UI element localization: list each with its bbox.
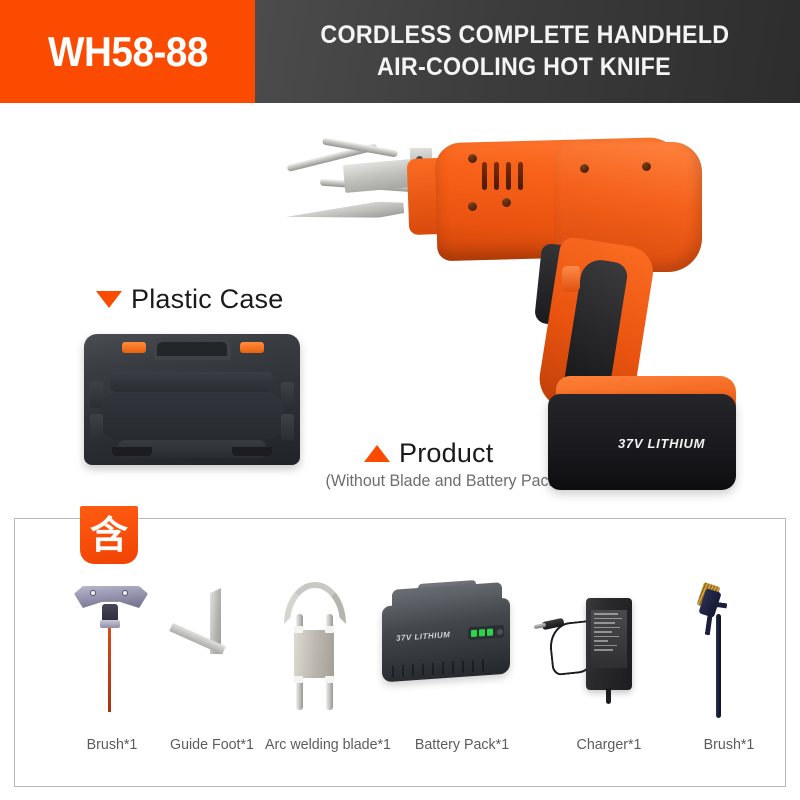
case-handle: [153, 338, 231, 360]
case-body: [84, 334, 300, 465]
charger-spec-label: [591, 610, 627, 668]
accessory-wire-brush: [690, 580, 786, 720]
arc-blade-loop: [284, 582, 346, 624]
accessory-brush-t-handle: [60, 580, 164, 720]
header-banner: WH58-88 CORDLESS COMPLETE HANDHELD AIR-C…: [0, 0, 800, 103]
battery-led: [487, 629, 493, 636]
cooling-vent: [506, 162, 511, 190]
t-handle-hole: [122, 590, 128, 596]
case-foot: [112, 447, 152, 456]
trigger-button[interactable]: [562, 266, 580, 292]
arc-blade-clamp: [325, 676, 334, 683]
case-latch-right: [240, 342, 264, 353]
case-foot: [232, 447, 272, 456]
accessory-charger: [534, 580, 684, 720]
accessory-label-guide-foot: Guide Foot*1: [163, 736, 262, 753]
accessory-label-wire-brush: Brush*1: [677, 736, 782, 753]
battery-led: [479, 629, 485, 636]
blade-plate: [286, 200, 405, 224]
arc-blade-clamp: [294, 626, 303, 633]
blade-heater-block: [343, 159, 413, 193]
accessory-label-charger: Charger*1: [547, 736, 671, 753]
included-badge: 含: [80, 506, 138, 564]
arc-blade-clamp: [294, 676, 303, 683]
arc-blade-plate: [294, 630, 334, 678]
title-block: CORDLESS COMPLETE HANDHELD AIR-COOLING H…: [255, 0, 800, 103]
accessories-row: 37V LITHIUM: [14, 580, 786, 720]
t-handle-shaft: [108, 628, 111, 712]
case-latch-left: [122, 342, 146, 353]
accessory-labels: Brush*1 Guide Foot*1 Arc welding blade*1…: [14, 736, 786, 758]
hot-knife-product-image: 37V LITHIUM: [286, 118, 746, 488]
body-screw: [468, 202, 477, 211]
accessory-label-battery-pack: Battery Pack*1: [396, 736, 529, 753]
charger-output-cord: [606, 688, 611, 704]
accessory-guide-foot: [164, 580, 260, 720]
arc-blade-clamp: [325, 626, 334, 633]
case-panel-middle: [100, 392, 284, 440]
sku-text: WH58-88: [48, 28, 208, 76]
t-handle-collar: [100, 620, 120, 628]
cooling-vent: [494, 162, 499, 190]
callout-plastic-case-label: Plastic Case: [131, 284, 283, 315]
t-handle-hole: [90, 590, 96, 596]
title-line-1: CORDLESS COMPLETE HANDHELD: [320, 20, 729, 51]
cooling-vent: [518, 162, 523, 190]
body-screw: [468, 154, 477, 163]
body-screw: [642, 162, 651, 171]
accessory-battery-pack: 37V LITHIUM: [376, 580, 522, 720]
body-screw: [580, 164, 589, 173]
callout-plastic-case: Plastic Case: [96, 284, 283, 315]
accessory-label-arc-welding-blade: Arc welding blade*1: [262, 736, 395, 753]
cooling-vent: [482, 162, 487, 190]
battery-charge-gauge: [468, 625, 504, 641]
title-line-2: AIR-COOLING HOT KNIFE: [378, 52, 672, 83]
battery-gauge-button[interactable]: [497, 628, 503, 634]
body-screw: [502, 198, 511, 207]
battery-led: [471, 630, 477, 637]
accessory-arc-welding-blade: [266, 580, 370, 720]
wire-brush-handle: [716, 614, 721, 718]
product-infographic: WH58-88 CORDLESS COMPLETE HANDHELD AIR-C…: [0, 0, 800, 800]
case-rib: [90, 382, 103, 408]
triangle-down-icon: [96, 291, 122, 308]
case-rib: [90, 414, 103, 440]
plastic-case-image: [78, 320, 306, 480]
battery-label-text: 37V LITHIUM: [618, 436, 705, 451]
accessory-label-brush-t-handle: Brush*1: [63, 736, 162, 753]
case-panel-top: [110, 372, 274, 392]
sku-block: WH58-88: [0, 0, 255, 103]
